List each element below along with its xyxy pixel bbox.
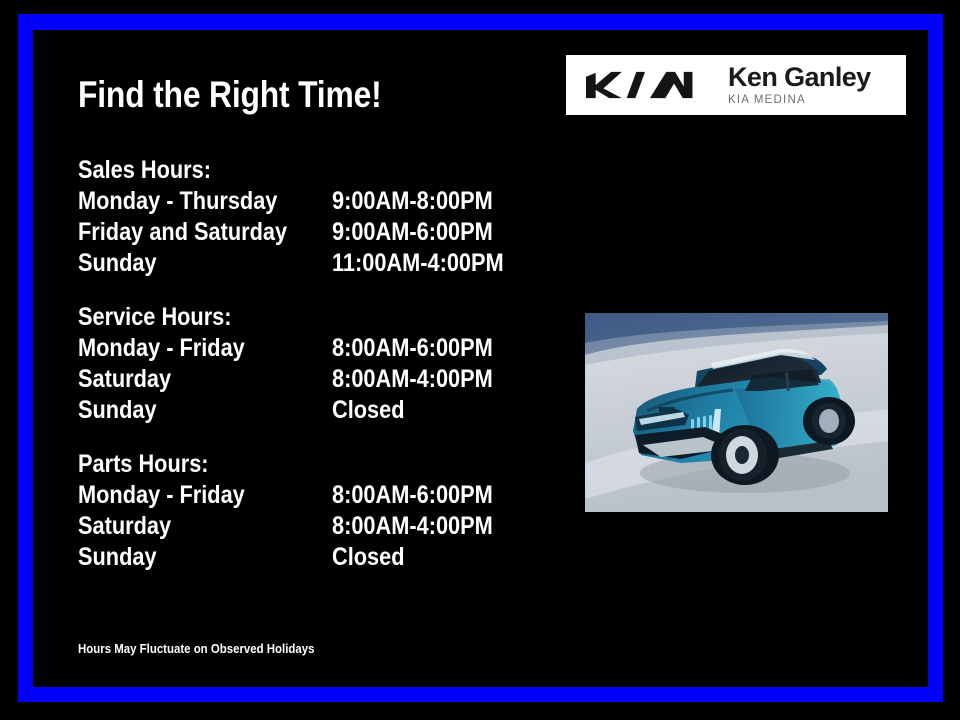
hours-row: Monday - Friday8:00AM-6:00PM [78,333,548,364]
hours-row-day: Saturday [78,364,171,395]
hours-row-day: Monday - Friday [78,480,245,511]
hours-row: Monday - Thursday9:00AM-8:00PM [78,186,548,217]
hours-row-time: 9:00AM-8:00PM [332,186,493,217]
dealer-name: Ken Ganley [728,64,871,91]
hours-row: Sunday11:00AM-4:00PM [78,248,548,279]
dealer-location: KIA MEDINA [728,95,871,107]
hours-block: Parts Hours:Monday - Friday8:00AM-6:00PM… [78,449,548,573]
hours-row-time: 11:00AM-4:00PM [332,248,504,279]
hours-row-time: 8:00AM-4:00PM [332,364,493,395]
hours-row-time: Closed [332,542,405,573]
hours-row: Friday and Saturday9:00AM-6:00PM [78,217,548,248]
hours-row-day: Monday - Thursday [78,186,277,217]
hours-row-time: 8:00AM-6:00PM [332,333,493,364]
hours-row-day: Friday and Saturday [78,217,287,248]
hours-block-title-text: Service Hours: [78,302,232,333]
hours-row: SundayClosed [78,395,548,426]
hours-row-time: 8:00AM-6:00PM [332,480,493,511]
hours-block-title: Sales Hours: [78,155,548,186]
hours-row: SundayClosed [78,542,548,573]
hours-row: Monday - Friday8:00AM-6:00PM [78,480,548,511]
hours-block: Sales Hours:Monday - Thursday9:00AM-8:00… [78,155,548,279]
hours-section: Sales Hours:Monday - Thursday9:00AM-8:00… [78,155,548,573]
hours-row-day: Saturday [78,511,171,542]
hours-block-title: Service Hours: [78,302,548,333]
slide-canvas: Find the Right Time! Sales Hours:Monday … [0,0,960,720]
hours-row-day: Sunday [78,542,157,573]
hours-row: Saturday8:00AM-4:00PM [78,511,548,542]
hours-row-time: Closed [332,395,405,426]
page-title: Find the Right Time! [78,76,382,115]
hours-block-title-text: Sales Hours: [78,155,211,186]
hours-row-day: Sunday [78,395,157,426]
hours-block-title-text: Parts Hours: [78,449,209,480]
kia-logo-icon [582,70,710,100]
vehicle-photo [585,313,888,512]
holiday-disclaimer: Hours May Fluctuate on Observed Holidays [78,641,314,657]
hours-row: Saturday8:00AM-4:00PM [78,364,548,395]
hours-row-day: Sunday [78,248,157,279]
dealer-logo-banner: Ken Ganley KIA MEDINA [566,55,906,115]
hours-block-title: Parts Hours: [78,449,548,480]
hours-row-time: 9:00AM-6:00PM [332,217,493,248]
hours-block: Service Hours:Monday - Friday8:00AM-6:00… [78,302,548,426]
hours-row-day: Monday - Friday [78,333,245,364]
hours-row-time: 8:00AM-4:00PM [332,511,493,542]
dealer-name-block: Ken Ganley KIA MEDINA [728,64,871,107]
